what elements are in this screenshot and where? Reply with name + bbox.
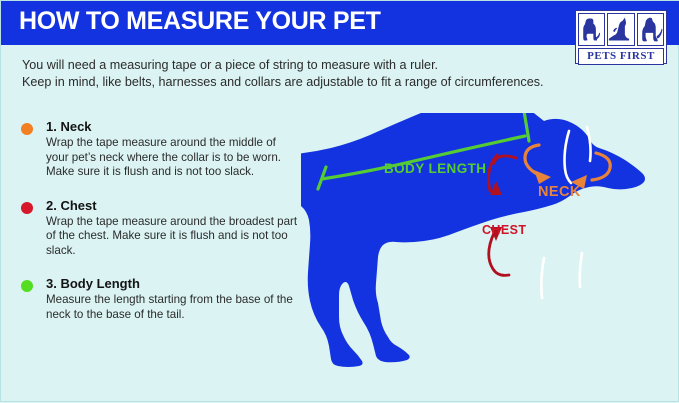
logo-icon-row	[578, 13, 664, 46]
list-item: 2. Chest Wrap the tape measure around th…	[21, 198, 301, 259]
step-title-neck: 1. Neck	[46, 119, 301, 135]
infographic-page: HOW TO MEASURE YOUR PET PETS	[0, 0, 679, 402]
intro-text: You will need a measuring tape or a piec…	[22, 57, 622, 91]
label-body-length: BODY LENGTH	[384, 161, 486, 176]
bullet-neck	[21, 123, 33, 135]
list-item: 3. Body Length Measure the length starti…	[21, 276, 301, 322]
page-title: HOW TO MEASURE YOUR PET	[19, 7, 381, 36]
dog-sitting-icon	[578, 13, 605, 46]
label-neck: NECK	[538, 184, 581, 200]
brand-logo: PETS FIRST	[575, 10, 667, 64]
label-chest: CHEST	[482, 223, 526, 237]
intro-line-1: You will need a measuring tape or a piec…	[22, 57, 622, 74]
step-body-chest: Wrap the tape measure around the broades…	[46, 215, 301, 259]
bullet-chest	[21, 202, 33, 214]
dog-diagram	[301, 113, 679, 403]
dog-silhouette	[301, 113, 645, 367]
step-title-body-length: 3. Body Length	[46, 276, 301, 292]
step-title-chest: 2. Chest	[46, 198, 301, 214]
intro-line-2: Keep in mind, like belts, harnesses and …	[22, 74, 622, 91]
dog-sitting-alert-icon	[637, 13, 664, 46]
dog-begging-icon	[607, 13, 634, 46]
list-item: 1. Neck Wrap the tape measure around the…	[21, 119, 301, 180]
measurement-steps-list: 1. Neck Wrap the tape measure around the…	[21, 119, 301, 338]
step-body-neck: Wrap the tape measure around the middle …	[46, 136, 301, 180]
bullet-body-length	[21, 280, 33, 292]
step-body-body-length: Measure the length starting from the bas…	[46, 293, 301, 322]
